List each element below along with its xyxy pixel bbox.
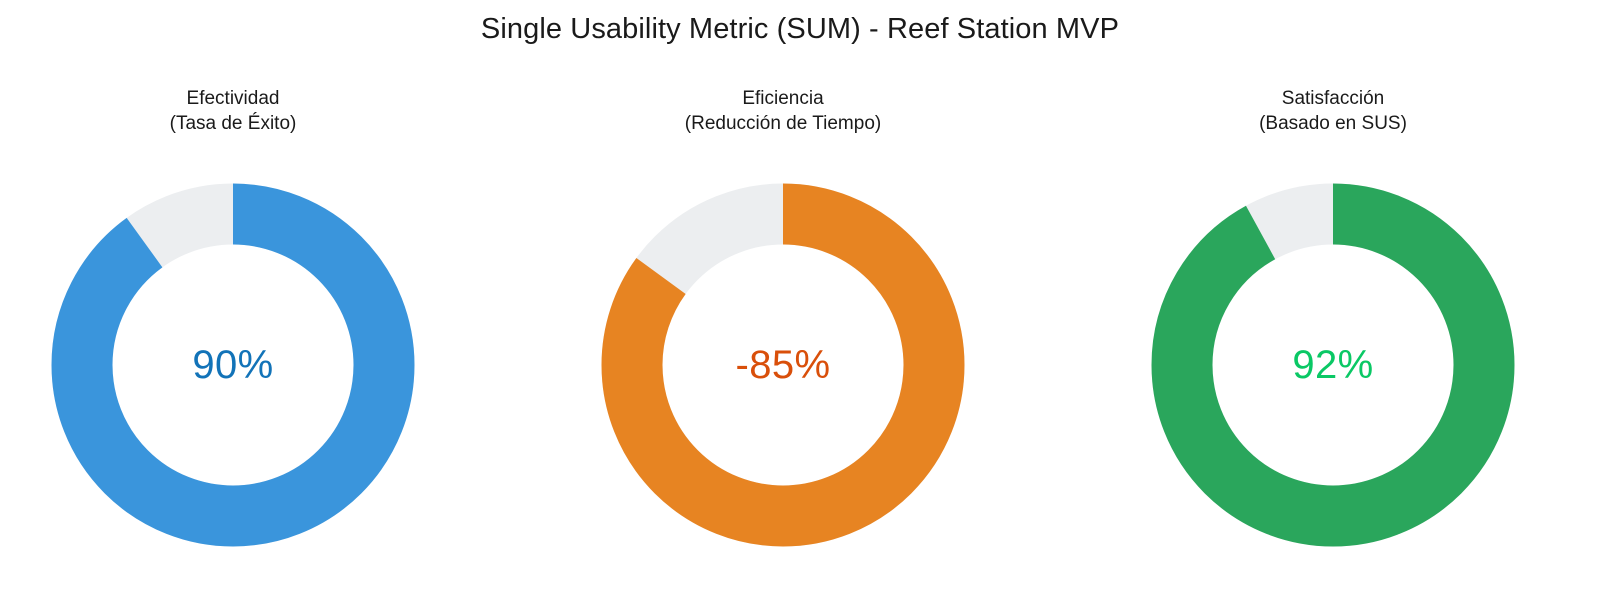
sum-gauge-chart: Single Usability Metric (SUM) - Reef Sta… xyxy=(0,0,1600,606)
gauge-caption-line1: Efectividad xyxy=(0,86,508,111)
gauge-caption: Efectividad (Tasa de Éxito) xyxy=(0,86,508,136)
donut-chart: 92% xyxy=(1151,183,1515,547)
gauge-caption: Satisfacción (Basado en SUS) xyxy=(1058,86,1600,136)
donut-value-arc xyxy=(82,214,384,516)
donut-chart: 90% xyxy=(51,183,415,547)
gauge-caption: Eficiencia (Reducción de Tiempo) xyxy=(508,86,1058,136)
donut-svg xyxy=(1151,183,1515,547)
gauge-caption-line1: Eficiencia xyxy=(508,86,1058,111)
gauge-caption-line1: Satisfacción xyxy=(1058,86,1600,111)
donut-chart: -85% xyxy=(601,183,965,547)
gauge-caption-line2: (Basado en SUS) xyxy=(1058,111,1600,136)
donut-svg xyxy=(601,183,965,547)
gauge-caption-line2: (Reducción de Tiempo) xyxy=(508,111,1058,136)
donut-svg xyxy=(51,183,415,547)
gauge-satisfaccion: Satisfacción (Basado en SUS) 92% xyxy=(1058,0,1600,606)
donut-value-arc xyxy=(1182,214,1484,516)
gauge-caption-line2: (Tasa de Éxito) xyxy=(0,111,508,136)
gauge-group: Efectividad (Tasa de Éxito) 90% Eficienc… xyxy=(0,0,1600,606)
gauge-efectividad: Efectividad (Tasa de Éxito) 90% xyxy=(0,0,508,606)
gauge-eficiencia: Eficiencia (Reducción de Tiempo) -85% xyxy=(508,0,1058,606)
